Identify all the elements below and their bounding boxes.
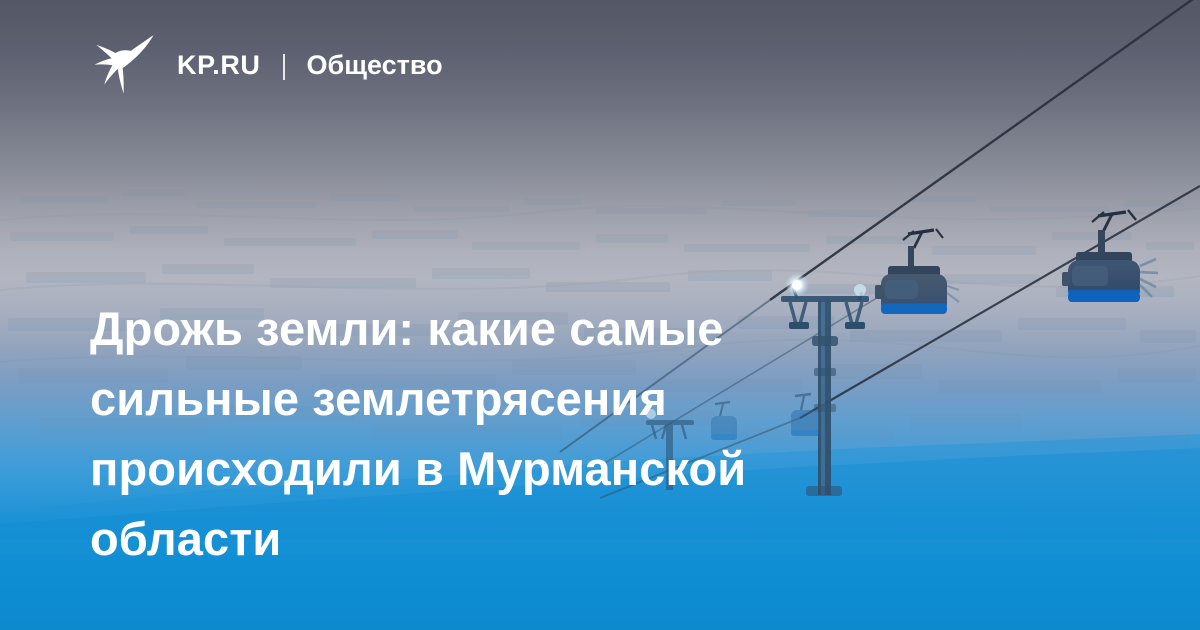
social-share-card: KP.RU Общество Дрожь земли: какие самые … [0,0,1200,630]
headline-line-1: Дрожь земли: какие самые [90,294,950,364]
swallow-bird-logo-icon[interactable] [93,34,155,96]
rubric-label[interactable]: Общество [307,52,443,79]
headline-line-4: области [90,504,950,574]
page-title: Дрожь земли: какие самые сильные землетр… [90,294,950,574]
headline-line-2: сильные землетрясения [90,364,950,434]
site-header: KP.RU Общество [0,0,1200,130]
brand-name[interactable]: KP.RU [177,52,261,79]
header-divider [283,54,285,80]
gondola-right [1062,210,1158,302]
headline-line-3: происходили в Мурманской [90,434,950,504]
